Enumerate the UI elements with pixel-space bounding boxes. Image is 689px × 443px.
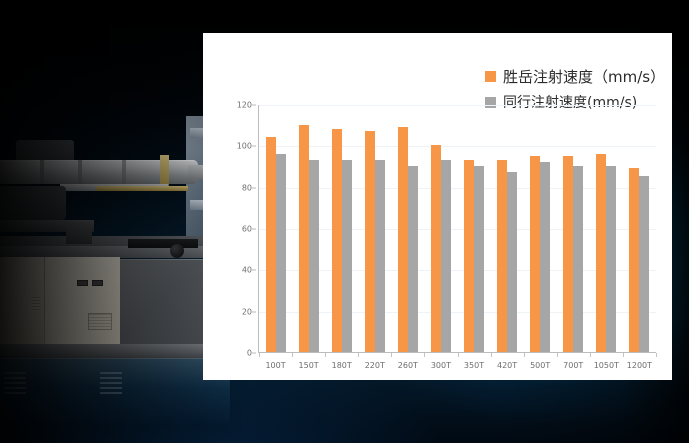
bar-groups (259, 105, 656, 352)
bar-peer[interactable] (639, 176, 649, 352)
bar-shengyue[interactable] (563, 156, 573, 352)
y-tick-mark (252, 229, 256, 230)
y-axis: 020406080100120 (230, 105, 258, 352)
legend-item-0[interactable]: 胜岳注射速度（mm/s） (485, 66, 665, 87)
bar-shengyue[interactable] (365, 131, 375, 352)
y-tick-label: 80 (242, 183, 252, 192)
y-tick-mark (252, 187, 256, 188)
y-tick-mark (252, 105, 256, 106)
bar-shengyue[interactable] (266, 137, 276, 352)
bar-shengyue[interactable] (596, 154, 606, 352)
x-tick-mark (424, 353, 425, 357)
x-axis-label: 700T (557, 361, 590, 370)
x-axis-ticks (259, 353, 656, 359)
x-tick-mark (358, 353, 359, 357)
y-tick-label: 20 (242, 307, 252, 316)
x-tick-mark (259, 353, 260, 357)
x-axis-labels: 100T150T180T220T260T300T350T420T500T700T… (259, 361, 656, 370)
y-tick-mark (252, 311, 256, 312)
x-tick-mark (623, 353, 624, 357)
bar-shengyue[interactable] (629, 168, 639, 352)
legend-swatch-icon (485, 71, 496, 82)
bar-group (457, 105, 490, 352)
x-axis-label: 100T (259, 361, 292, 370)
bar-shengyue[interactable] (299, 125, 309, 352)
x-tick-mark (656, 353, 657, 357)
x-tick-mark (590, 353, 591, 357)
bar-peer[interactable] (540, 162, 550, 352)
bar-group (391, 105, 424, 352)
bar-group (590, 105, 623, 352)
bar-group (292, 105, 325, 352)
chart-panel: 胜岳注射速度（mm/s）同行注射速度(mm/s) 020406080100120… (203, 33, 672, 380)
y-tick-mark (252, 353, 256, 354)
bar-shengyue[interactable] (497, 160, 507, 352)
y-tick-label: 60 (242, 225, 252, 234)
bar-shengyue[interactable] (530, 156, 540, 352)
x-axis-label: 220T (358, 361, 391, 370)
x-tick-mark (325, 353, 326, 357)
bar-group (491, 105, 524, 352)
bar-peer[interactable] (408, 166, 418, 352)
x-tick-mark (391, 353, 392, 357)
x-axis-label: 260T (391, 361, 424, 370)
x-axis-label: 350T (457, 361, 490, 370)
bar-peer[interactable] (342, 160, 352, 352)
bar-shengyue[interactable] (332, 129, 342, 352)
x-tick-mark (524, 353, 525, 357)
bar-peer[interactable] (474, 166, 484, 352)
plot-canvas (259, 105, 656, 353)
bar-shengyue[interactable] (431, 145, 441, 352)
bar-peer[interactable] (375, 160, 385, 352)
x-axis-label: 300T (424, 361, 457, 370)
x-axis-label: 1200T (623, 361, 656, 370)
bar-group (259, 105, 292, 352)
bar-group (325, 105, 358, 352)
bar-group (557, 105, 590, 352)
y-tick-mark (252, 146, 256, 147)
bar-shengyue[interactable] (398, 127, 408, 352)
x-axis-label: 500T (524, 361, 557, 370)
x-tick-mark (458, 353, 459, 357)
plot-area: 020406080100120 100T150T180T220T260T300T… (230, 105, 656, 388)
y-tick-label: 100 (237, 142, 252, 151)
y-tick-label: 40 (242, 266, 252, 275)
x-axis-label: 420T (491, 361, 524, 370)
y-tick-label: 120 (237, 101, 252, 110)
bar-peer[interactable] (606, 166, 616, 352)
legend-label: 胜岳注射速度（mm/s） (503, 66, 665, 87)
x-tick-mark (491, 353, 492, 357)
bar-peer[interactable] (309, 160, 319, 352)
bar-group (524, 105, 557, 352)
bar-group (358, 105, 391, 352)
x-axis-label: 180T (325, 361, 358, 370)
bar-peer[interactable] (441, 160, 451, 352)
bar-peer[interactable] (276, 154, 286, 352)
bar-group (623, 105, 656, 352)
x-tick-mark (557, 353, 558, 357)
bar-peer[interactable] (507, 172, 517, 352)
x-tick-mark (292, 353, 293, 357)
bar-shengyue[interactable] (464, 160, 474, 352)
screenshot-root: 胜岳注射速度（mm/s）同行注射速度(mm/s) 020406080100120… (0, 0, 689, 443)
x-axis-label: 1050T (590, 361, 623, 370)
x-axis-label: 150T (292, 361, 325, 370)
bar-group (424, 105, 457, 352)
bar-peer[interactable] (573, 166, 583, 352)
y-tick-mark (252, 270, 256, 271)
